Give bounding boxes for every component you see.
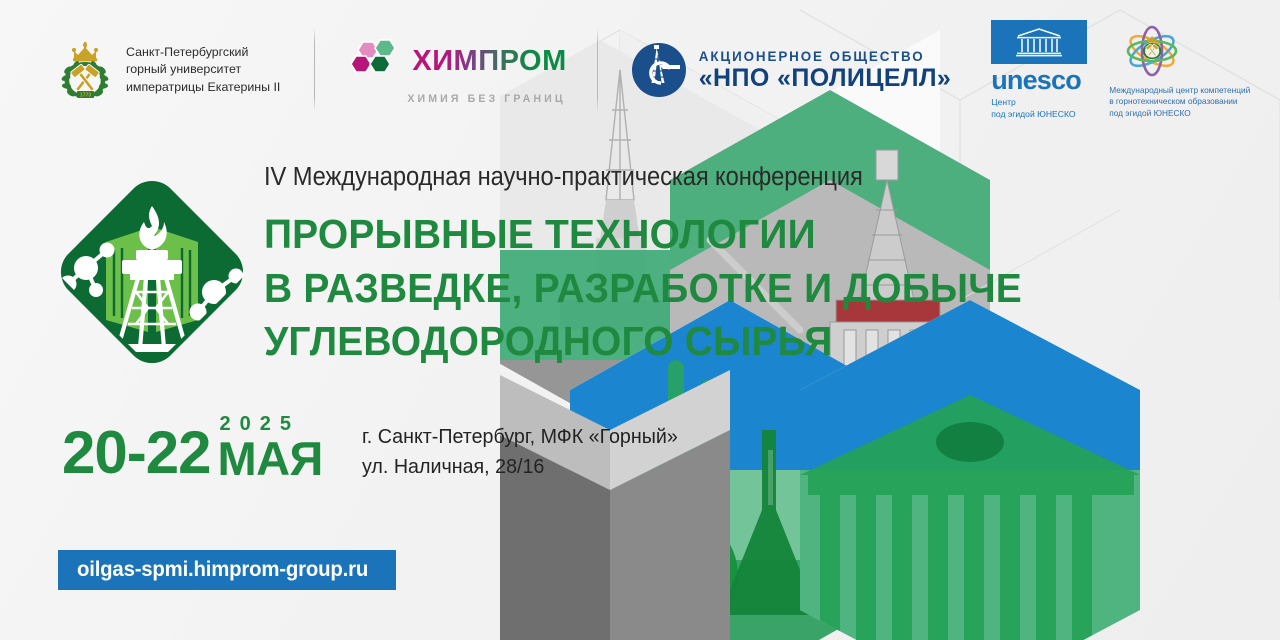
icc-atom-crest-icon: [1115, 21, 1189, 83]
spmi-line-3: императрицы Екатерины II: [126, 79, 280, 97]
partner-icc-subtitle: Международный центр компетенций в горнот…: [1109, 85, 1250, 119]
icc-sub-line1: Международный центр компетенций: [1109, 85, 1250, 96]
conference-title-line-3: УГЛЕВОДОРОДНОГО СЫРЬЯ: [264, 315, 929, 368]
svg-text:1773: 1773: [80, 93, 92, 99]
venue-line-1: г. Санкт-Петербург, МФК «Горный»: [362, 422, 678, 452]
conference-website-button[interactable]: oilgas-spmi.himprom-group.ru: [58, 550, 396, 590]
conference-venue: г. Санкт-Петербург, МФК «Горный» ул. Нал…: [362, 422, 691, 483]
spmi-line-1: Санкт-Петербургский: [126, 44, 280, 62]
spmi-line-2: горный университет: [126, 61, 280, 79]
unesco-temple-icon: [1013, 26, 1065, 58]
logo-divider-1: [314, 28, 315, 112]
partner-policell-line2: «НПО «ПОЛИЦЕЛЛ»: [699, 65, 951, 91]
venue-line-2: ул. Наличная, 28/16: [362, 452, 678, 482]
conference-title-line-1: ПРОРЫВНЫЕ ТЕХНОЛОГИИ: [264, 208, 929, 261]
partner-himprom-tagline: ХИМИЯ БЕЗ ГРАНИЦ: [407, 93, 565, 105]
partner-logo-strip: 1773 Санкт-Петербургский горный универси…: [0, 0, 1280, 140]
icc-sub-line2: в горнотехническом образовании: [1109, 96, 1250, 107]
partner-logo-icc: Международный центр компетенций в горнот…: [1109, 20, 1250, 120]
partner-logo-spmi: 1773 Санкт-Петербургский горный универси…: [0, 20, 280, 120]
logo-divider-2: [597, 28, 598, 112]
partner-logo-policell: АКЦИОНЕРНОЕ ОБЩЕСТВО «НПО «ПОЛИЦЕЛЛ»: [630, 20, 951, 120]
icc-sub-line3: под эгидой ЮНЕСКО: [1109, 108, 1250, 119]
unesco-emblem-box: [991, 20, 1087, 64]
partner-logo-unesco: unesco Центр под эгидой ЮНЕСКО: [991, 20, 1087, 120]
conference-banner: 1773 Санкт-Петербургский горный универси…: [0, 0, 1280, 640]
conference-emblem-derrick-book-icon: [52, 172, 252, 372]
conference-kicker: IV Международная научно-практическая кон…: [264, 163, 915, 192]
unesco-sub-line1: Центр: [991, 97, 1075, 108]
conference-website-url: oilgas-spmi.himprom-group.ru: [77, 558, 368, 582]
mining-university-crest-icon: 1773: [58, 40, 114, 100]
conference-date-days: 20-22: [62, 424, 210, 482]
partner-logo-himprom: ХИМПРОМ ХИМИЯ БЕЗ ГРАНИЦ: [351, 20, 566, 120]
headline-block: IV Международная научно-практическая кон…: [264, 163, 964, 368]
partner-unesco-subtitle: Центр под эгидой ЮНЕСКО: [991, 97, 1075, 120]
himprom-hexagons-icon: [351, 36, 403, 88]
conference-date-month: МАЯ: [217, 437, 322, 481]
conference-title-line-2: В РАЗВЕДКЕ, РАЗРАБОТКЕ И ДОБЫЧЕ: [264, 262, 929, 315]
partner-himprom-wordmark: ХИМПРОМ: [412, 47, 566, 76]
policell-derrick-circle-icon: [630, 41, 688, 99]
unesco-sub-line2: под эгидой ЮНЕСКО: [991, 109, 1075, 120]
conference-date-year: 2025: [219, 414, 300, 434]
partner-unesco-wordmark: unesco: [991, 67, 1081, 94]
conference-date: 20-22 2025 МАЯ: [62, 414, 323, 481]
partner-spmi-name: Санкт-Петербургский горный университет и…: [126, 44, 280, 97]
partner-policell-line1: АКЦИОНЕРНОЕ ОБЩЕСТВО: [699, 49, 951, 64]
